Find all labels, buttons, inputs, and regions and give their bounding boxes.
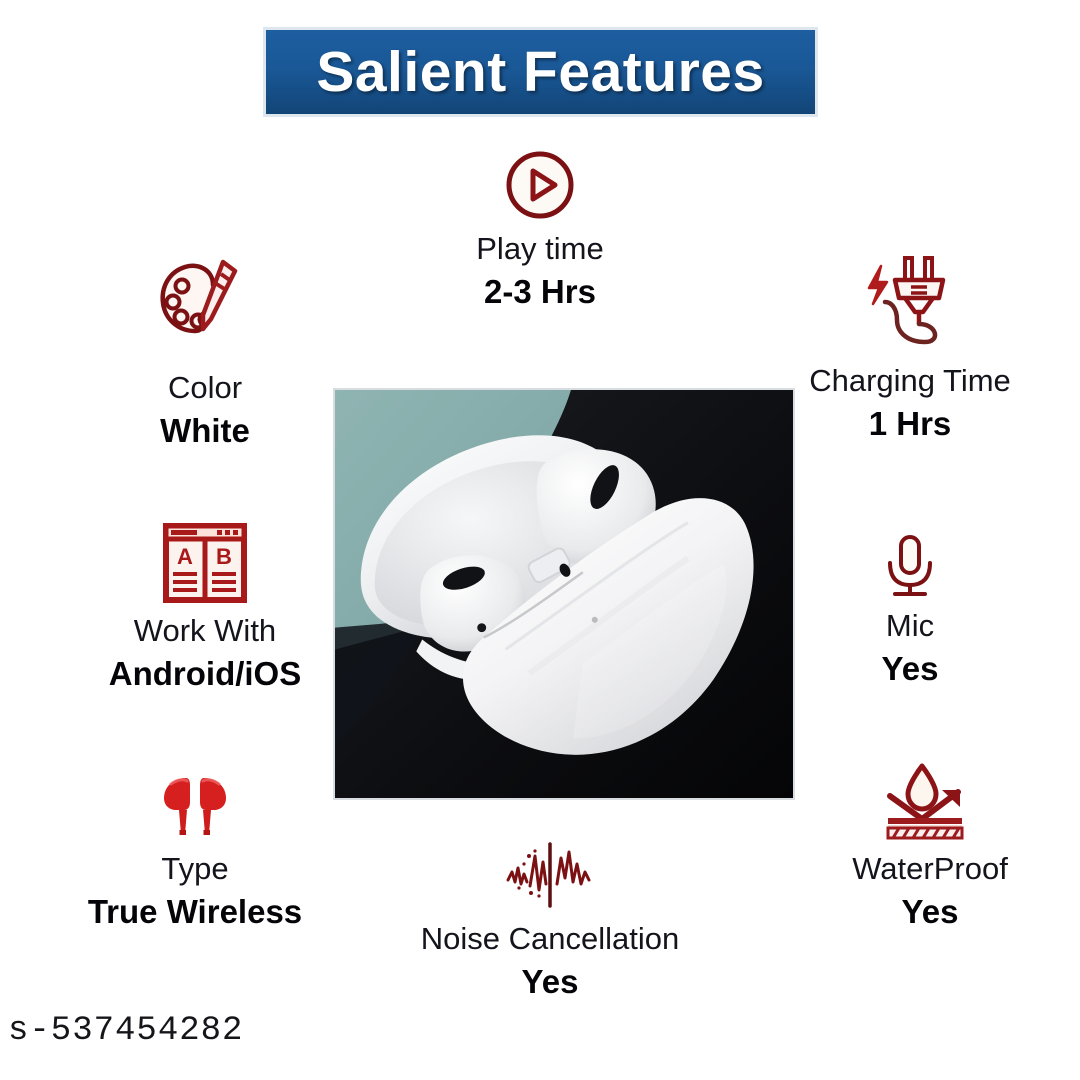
feature-mic: Mic Yes <box>810 533 1010 688</box>
feature-label: Play time <box>476 232 603 267</box>
power-plug-icon <box>855 250 965 354</box>
product-photo-illustration <box>335 390 793 798</box>
sound-waveform-icon <box>502 838 598 912</box>
feature-value: 1 Hrs <box>869 406 952 443</box>
feature-value: Android/iOS <box>109 656 302 693</box>
svg-text:A: A <box>177 544 193 569</box>
page-title: Salient Features <box>316 44 764 101</box>
feature-color: Color White <box>80 253 330 450</box>
microphone-icon <box>878 533 942 599</box>
salient-features-banner: Salient Features <box>263 27 818 117</box>
feature-work-with: A B Work With Android/iOS <box>60 522 350 693</box>
feature-play-time: Play time 2-3 Hrs <box>390 148 690 311</box>
infographic-page: Salient Features Play time 2-3 Hrs <box>0 0 1080 1080</box>
compatibility-icon: A B <box>162 522 248 604</box>
product-photo <box>333 388 795 800</box>
feature-label: WaterProof <box>852 852 1008 887</box>
feature-label: Color <box>168 371 242 406</box>
feature-type: Type True Wireless <box>55 772 335 931</box>
feature-waterproof: WaterProof Yes <box>805 762 1055 931</box>
play-circle-icon <box>503 148 577 222</box>
feature-value: Yes <box>522 964 579 1001</box>
feature-label: Work With <box>134 614 276 649</box>
feature-label: Type <box>161 852 228 887</box>
water-droplet-repel-icon <box>882 762 978 842</box>
feature-value: Yes <box>882 651 939 688</box>
product-id-watermark: s-537454282 <box>8 1012 243 1050</box>
feature-value: 2-3 Hrs <box>484 274 596 311</box>
earbuds-icon <box>158 772 232 842</box>
feature-value: True Wireless <box>88 894 302 931</box>
paint-palette-icon <box>151 253 259 361</box>
feature-label: Charging Time <box>809 364 1011 399</box>
feature-charging-time: Charging Time 1 Hrs <box>775 250 1045 443</box>
feature-label: Noise Cancellation <box>421 922 679 957</box>
feature-label: Mic <box>886 609 934 644</box>
feature-value: Yes <box>902 894 959 931</box>
feature-value: White <box>160 413 250 450</box>
svg-text:B: B <box>216 544 232 569</box>
feature-noise-cancellation: Noise Cancellation Yes <box>400 838 700 1001</box>
